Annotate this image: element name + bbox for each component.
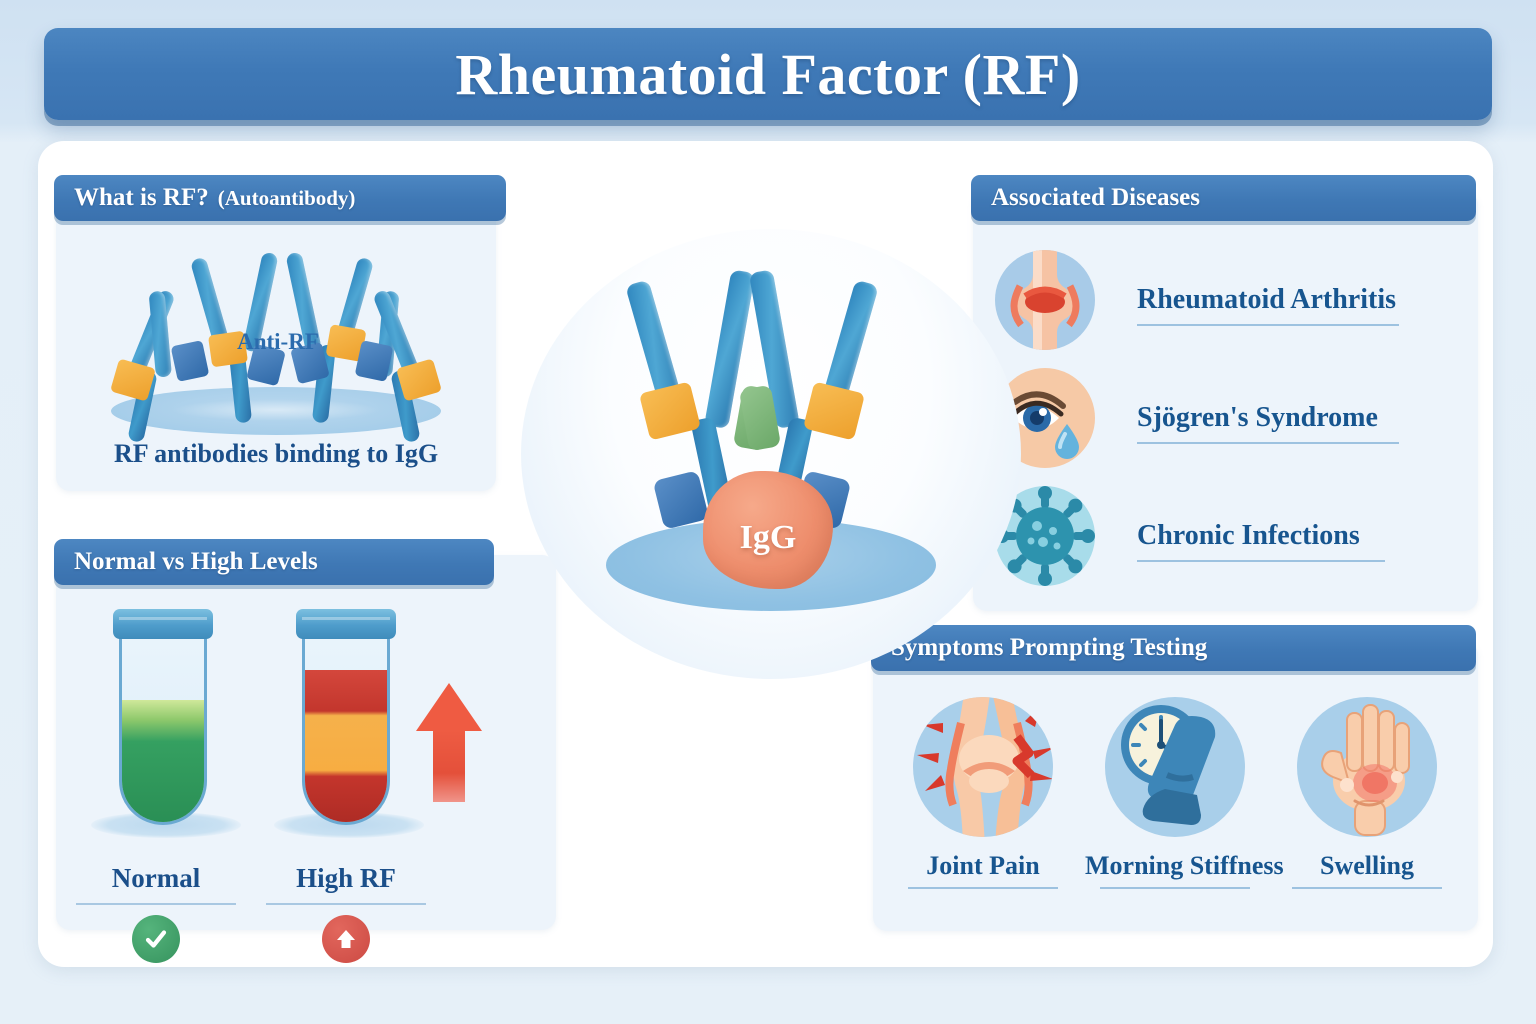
- clock-leg-icon: [1105, 697, 1245, 837]
- symptom-joint-pain[interactable]: Joint Pain: [893, 697, 1073, 889]
- symptom-label: Swelling: [1277, 851, 1457, 881]
- status-badge-normal: [132, 915, 180, 963]
- symptom-underline: [1100, 887, 1250, 889]
- disease-row-chronic-infections[interactable]: Chronic Infections: [995, 481, 1465, 591]
- antibody-illustration: Anti-RF: [56, 237, 496, 437]
- disease-row-rheumatoid-arthritis[interactable]: Rheumatoid Arthritis: [995, 245, 1465, 355]
- symptom-underline: [1292, 887, 1442, 889]
- tube-label-high: High RF: [256, 863, 436, 894]
- disease-label-wrap: Rheumatoid Arthritis: [1137, 284, 1396, 316]
- tube-liquid-high: [305, 670, 387, 822]
- what-is-rf-caption: RF antibodies binding to IgG: [56, 439, 496, 469]
- tube-underline: [266, 903, 426, 905]
- disease-underline: [1137, 560, 1385, 562]
- tube-liquid-normal: [122, 700, 204, 822]
- binding-pool-shape: [111, 387, 441, 435]
- swollen-hand-icon: [1297, 697, 1437, 837]
- panel-what-is-rf-subtitle: (Autoantibody): [218, 186, 356, 211]
- disease-underline: [1137, 324, 1399, 326]
- panel-levels-title: Normal vs High Levels: [74, 548, 318, 576]
- panel-diseases-title: Associated Diseases: [991, 184, 1200, 212]
- tube-cap: [113, 609, 213, 639]
- panel-levels-header: Normal vs High Levels: [54, 539, 494, 585]
- tube-glass: [119, 629, 207, 825]
- panel-what-is-rf-title: What is RF?: [74, 184, 209, 212]
- disease-label-wrap: Chronic Infections: [1137, 520, 1360, 552]
- disease-label: Chronic Infections: [1137, 520, 1360, 552]
- tube-underline: [76, 903, 236, 905]
- symptom-underline: [908, 887, 1058, 889]
- tube-cap: [296, 609, 396, 639]
- disease-label: Rheumatoid Arthritis: [1137, 284, 1396, 316]
- panel-what-is-rf-header: What is RF? (Autoantibody): [54, 175, 506, 221]
- check-icon: [142, 925, 170, 953]
- disease-label-wrap: Sjögren's Syndrome: [1137, 402, 1378, 434]
- panel-what-is-rf: What is RF? (Autoantibody): [56, 191, 496, 491]
- igg-label: IgG: [703, 519, 833, 557]
- center-igg-illustration: IgG: [481, 219, 1041, 694]
- anti-rf-label: Anti-RF: [198, 329, 358, 355]
- page-title-banner: Rheumatoid Factor (RF): [44, 28, 1492, 120]
- tube-glass: [302, 629, 390, 825]
- disease-row-sjogrens-syndrome[interactable]: Sjögren's Syndrome: [995, 363, 1465, 473]
- panel-associated-diseases: Associated Diseases Rheumatoid Arthritis: [973, 191, 1478, 611]
- test-tube-high-rf: [284, 607, 414, 857]
- panel-diseases-header: Associated Diseases: [971, 175, 1476, 221]
- arrow-head: [416, 683, 482, 731]
- main-content-card: What is RF? (Autoantibody): [38, 141, 1493, 967]
- arrow-up-icon: [332, 925, 360, 953]
- painful-knee-icon: [913, 697, 1053, 837]
- symptom-label: Joint Pain: [893, 851, 1073, 881]
- symptom-label: Morning Stiffness: [1085, 851, 1265, 881]
- arrow-shaft: [433, 730, 465, 802]
- status-badge-high: [322, 915, 370, 963]
- page-title: Rheumatoid Factor (RF): [455, 41, 1080, 108]
- disease-underline: [1137, 442, 1399, 444]
- tube-label-normal: Normal: [66, 863, 246, 894]
- test-tube-normal: [101, 607, 231, 857]
- symptom-morning-stiffness[interactable]: Morning Stiffness: [1085, 697, 1265, 889]
- infographic-page: Rheumatoid Factor (RF) What is RF? (Auto…: [0, 0, 1536, 1024]
- disease-label: Sjögren's Syndrome: [1137, 402, 1378, 434]
- symptom-swelling[interactable]: Swelling: [1277, 697, 1457, 889]
